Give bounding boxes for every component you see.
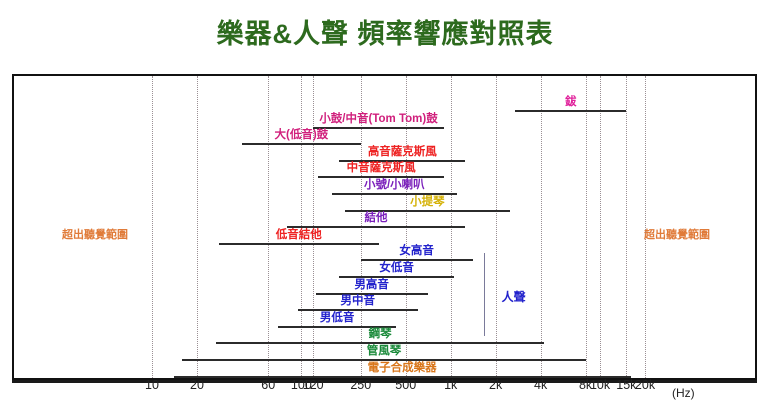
right-out-of-range-label: 超出聽覺範圍 [644, 226, 710, 242]
vocal-group-label: 人聲 [502, 288, 526, 305]
bar-label: 男低音 [320, 312, 355, 324]
bar-label: 鈸 [565, 96, 577, 108]
x-tick-label: 20 [190, 378, 204, 392]
bar-label: 大(低音)鼓 [275, 129, 329, 141]
gridline [626, 76, 627, 378]
frequency-range-bar [515, 110, 626, 112]
x-tick-label: 250 [350, 378, 371, 392]
bar-label: 電子合成樂器 [368, 362, 437, 374]
gridline [496, 76, 497, 378]
gridline [152, 76, 153, 378]
x-tick-label: 15k [616, 378, 636, 392]
chart-plot-area: 鈸小鼓/中音(Tom Tom)鼓大(低音)鼓高音薩克斯風中音薩克斯風小號/小喇叭… [12, 74, 757, 380]
bar-label: 小號/小喇叭 [364, 179, 425, 191]
bar-label: 男中音 [341, 295, 376, 307]
frequency-range-bar [242, 143, 361, 145]
bar-label: 小鼓/中音(Tom Tom)鼓 [319, 113, 437, 125]
x-tick-label: 20k [635, 378, 655, 392]
left-out-of-range-label: 超出聽覺範圍 [62, 226, 128, 242]
bar-label: 中音薩克斯風 [347, 162, 416, 174]
bar-label: 男高音 [354, 279, 389, 291]
x-tick-label: 1k [444, 378, 457, 392]
x-tick-label: 60 [261, 378, 275, 392]
frequency-range-bar [219, 243, 379, 245]
page-title: 樂器&人聲 頻率響應對照表 [0, 12, 770, 51]
frequency-range-bar [313, 127, 444, 129]
frequency-range-bar [361, 259, 473, 261]
x-tick-label: 10 [145, 378, 159, 392]
bar-label: 女低音 [379, 262, 414, 274]
gridline [586, 76, 587, 378]
x-tick-label: 4k [534, 378, 547, 392]
x-tick-label: 120 [303, 378, 324, 392]
x-tick-label: 2k [489, 378, 502, 392]
bar-label: 管風琴 [367, 345, 402, 357]
bar-label: 高音薩克斯風 [368, 146, 437, 158]
x-tick-label: 10k [590, 378, 610, 392]
gridline [268, 76, 269, 378]
bar-label: 小提琴 [410, 196, 445, 208]
frequency-range-bar [298, 309, 418, 311]
gridline [197, 76, 198, 378]
gridline [600, 76, 601, 378]
gridline [541, 76, 542, 378]
x-tick-label: 500 [395, 378, 416, 392]
bar-label: 鋼琴 [369, 328, 392, 340]
vocal-group-bracket [484, 253, 485, 335]
x-axis-unit-label: (Hz) [672, 386, 695, 400]
bar-label: 女高音 [399, 245, 434, 257]
bar-label: 結他 [365, 212, 388, 224]
bar-label: 低音結他 [276, 229, 322, 241]
